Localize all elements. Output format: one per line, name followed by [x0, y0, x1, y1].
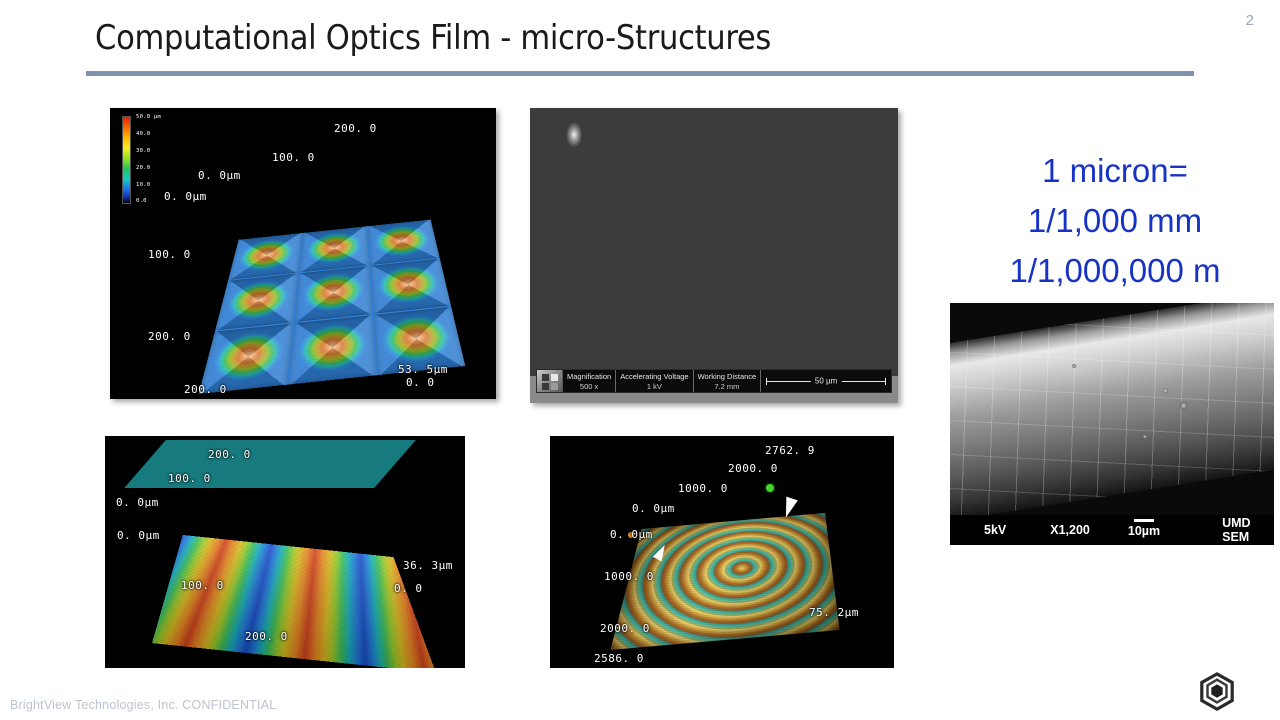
colorbar-tick: 10.0	[136, 182, 150, 188]
pyramid-cell	[299, 226, 368, 272]
sem-info-value: 500 x	[580, 382, 598, 391]
figure-lenticular-height-map[interactable]: 200. 0 100. 0 0. 0µm 0. 0µm 100. 0 200. …	[105, 436, 465, 668]
pyramid-cell	[294, 266, 371, 322]
axis-label-top-corner: 2762. 9	[765, 444, 815, 457]
sem-info-key: Working Distance	[698, 372, 757, 381]
colorbar-tick: 30.0	[136, 148, 150, 154]
axis-label-left-far: 2000. 0	[600, 622, 650, 635]
height-max-label: 53. 5µm	[398, 363, 448, 376]
sem-instrument-icon	[537, 370, 563, 392]
axis-label-top-mid: 1000. 0	[678, 482, 728, 495]
axis-label-bottom-corner: 2586. 0	[594, 652, 644, 665]
micron-conversion-note: 1 micron= 1/1,000 mm 1/1,000,000 m	[955, 146, 1275, 296]
colorbar-tick: 0.0	[136, 198, 147, 204]
axis-label-left-far: 200. 0	[148, 330, 191, 343]
pyramid-cell	[370, 259, 451, 314]
hair-sem-info-bar: 5kV X1,200 10µm UMD SEM	[950, 515, 1274, 545]
sem-info-working-distance: Working Distance 7.2 mm	[694, 370, 762, 392]
page-number: 2	[1246, 12, 1254, 29]
height-min-label: 0. 0	[406, 376, 435, 389]
axis-label-bottom-mid: 100. 0	[181, 579, 224, 592]
marker-green-dot	[766, 484, 774, 492]
hair-sem-voltage: 5kV	[984, 523, 1006, 537]
brightview-hexagon-logo	[1198, 672, 1236, 712]
lenticular-surface-render	[152, 535, 436, 668]
axis-label-left-origin-a: 0. 0µm	[116, 496, 159, 509]
figure-fresnel-height-map[interactable]: 2762. 9 2000. 0 1000. 0 0. 0µm 0. 0µm 10…	[550, 436, 894, 668]
height-max-label: 36. 3µm	[403, 559, 453, 572]
pyramid-cell	[368, 220, 440, 265]
page-title: Computational Optics Film - micro-Struct…	[95, 18, 771, 58]
micron-line-1: 1 micron=	[955, 146, 1275, 196]
colorbar-tick: 20.0	[136, 165, 150, 171]
pyramid-cell	[288, 315, 376, 384]
sem-info-value: 7.2 mm	[714, 382, 739, 391]
title-divider-rule	[86, 71, 1194, 76]
sem-info-magnification: Magnification 500 x	[563, 370, 616, 392]
axis-label-left-origin-b: 0. 0µm	[610, 528, 653, 541]
sem-info-bar: Magnification 500 x Accelerating Voltage…	[536, 369, 892, 393]
colorbar-tick: 50.0 µm	[136, 114, 161, 120]
hair-shaft-render	[950, 303, 1274, 523]
scale-bar-label: 50 µm	[811, 377, 841, 386]
micron-line-3: 1/1,000,000 m	[955, 246, 1275, 296]
axis-label-top-y: 200. 0	[208, 448, 251, 461]
axis-label-top-origin: 0. 0µm	[198, 169, 241, 182]
axis-label-left-mid: 100. 0	[148, 248, 191, 261]
axis-label-bottom-x: 200. 0	[184, 383, 227, 396]
axis-label-left-origin: 0. 0µm	[164, 190, 207, 203]
axis-label-bottom-x: 200. 0	[245, 630, 288, 643]
figure-pyramid-height-map[interactable]: 50.0 µm 40.0 30.0 20.0 10.0 0.0 200. 0 1…	[110, 108, 496, 399]
colorbar-tick: 40.0	[136, 131, 150, 137]
sem-info-key: Magnification	[567, 372, 611, 381]
sem-scale-bar: 50 µm	[761, 370, 891, 392]
hair-sem-magnification: X1,200	[1050, 523, 1090, 537]
axis-label-top-x: 200. 0	[334, 122, 377, 135]
sem-image-field	[530, 108, 898, 376]
axis-label-left-origin-b: 0. 0µm	[117, 529, 160, 542]
hair-sem-source: UMD SEM	[1222, 516, 1274, 544]
slide-canvas: Computational Optics Film - micro-Struct…	[0, 0, 1280, 720]
figure-sem-microcones[interactable]: Magnification 500 x Accelerating Voltage…	[530, 108, 898, 403]
sem-info-value: 1 kV	[647, 382, 662, 391]
axis-label-top-mid: 100. 0	[168, 472, 211, 485]
height-max-label: 75. 2µm	[809, 606, 859, 619]
sem-info-voltage: Accelerating Voltage 1 kV	[616, 370, 693, 392]
hair-sem-scale-bar: 10µm	[1128, 522, 1160, 538]
sem-info-key: Accelerating Voltage	[620, 372, 688, 381]
pyramid-cell	[228, 233, 301, 280]
axis-label-top-mid: 100. 0	[272, 151, 315, 164]
axis-label-left-origin-a: 0. 0µm	[632, 502, 675, 515]
micron-line-2: 1/1,000 mm	[955, 196, 1275, 246]
axis-label-top-y: 2000. 0	[728, 462, 778, 475]
height-colorbar	[122, 116, 131, 204]
axis-label-left-mid: 1000. 0	[604, 570, 654, 583]
figure-hair-sem[interactable]: 5kV X1,200 10µm UMD SEM	[950, 303, 1274, 545]
footer-confidentiality-notice: BrightView Technologies, Inc. CONFIDENTI…	[10, 698, 276, 712]
height-min-label: 0. 0	[394, 582, 423, 595]
